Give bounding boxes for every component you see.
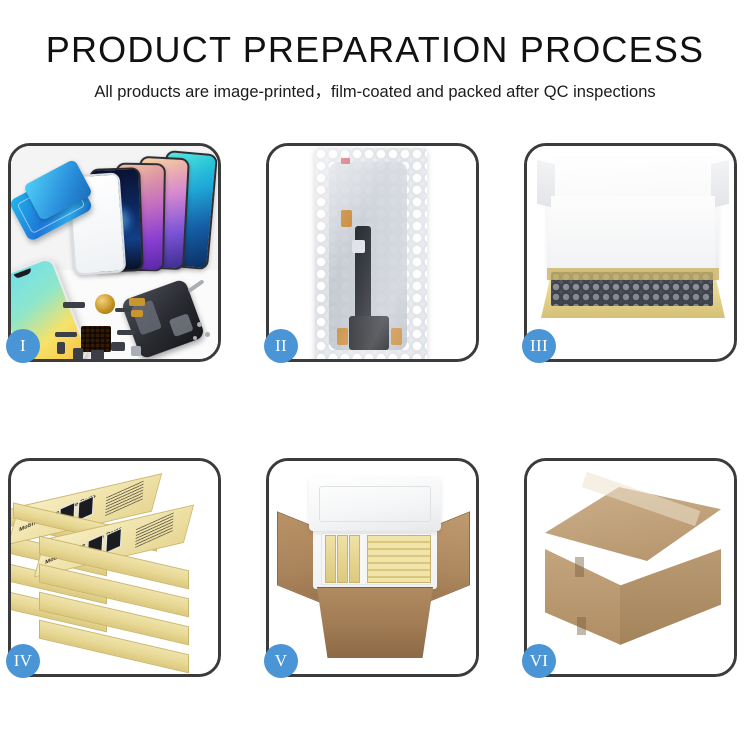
tape-tab-top xyxy=(341,210,352,227)
red-label-dot xyxy=(341,158,350,164)
step-image-1 xyxy=(11,146,218,359)
part-button-bracket xyxy=(57,342,65,354)
part-gold-coil xyxy=(95,294,115,314)
packed-gold-box-3 xyxy=(349,535,360,583)
step-panel-6: VI xyxy=(524,458,737,677)
step-badge-1: I xyxy=(6,329,40,363)
tape-tab-right xyxy=(391,328,402,345)
step-panel-3: III xyxy=(524,143,737,362)
part-screw-1 xyxy=(197,322,202,327)
carton-seam-upper xyxy=(575,557,584,577)
part-flex-cable-1 xyxy=(115,308,131,312)
part-vibrator xyxy=(91,350,104,359)
part-gold-bracket xyxy=(131,310,143,317)
packed-gold-boxes-flat xyxy=(367,535,431,583)
step-panel-4: Mobile Phone Spare Parts Mobile Phone Sp… xyxy=(8,458,221,677)
carton-seam-lower xyxy=(577,617,586,635)
part-camera-module xyxy=(111,342,125,351)
step-panel-5: V xyxy=(266,458,479,677)
page-subtitle: All products are image-printed，film-coat… xyxy=(0,81,750,103)
part-speaker-mesh xyxy=(63,302,85,308)
lcd-connector-board xyxy=(349,316,389,350)
step-image-3 xyxy=(527,146,734,359)
product-preparation-infographic: PRODUCT PREPARATION PROCESS All products… xyxy=(0,0,750,750)
part-screw-2 xyxy=(205,332,210,337)
box-label-spec-lines-1 xyxy=(105,481,143,516)
steps-grid: I II xyxy=(8,143,742,677)
step-badge-5: V xyxy=(264,644,298,678)
foam-box-lid xyxy=(309,477,441,531)
step-image-6 xyxy=(527,461,734,674)
part-sim-tray xyxy=(73,348,83,359)
packed-gold-box-1 xyxy=(325,535,336,583)
header: PRODUCT PREPARATION PROCESS All products… xyxy=(0,0,750,103)
step-badge-2: II xyxy=(264,329,298,363)
lcd-flex-cable xyxy=(355,226,371,324)
part-flex-cable-2 xyxy=(55,332,77,337)
part-chip-grid xyxy=(81,326,111,352)
step-badge-3: III xyxy=(522,329,556,363)
bubble-wrap-pouch xyxy=(315,148,427,359)
box-label-spec-lines-2 xyxy=(135,512,173,547)
part-gold-connector xyxy=(129,298,145,306)
carton-right-face xyxy=(620,549,721,645)
tray-inner-edge xyxy=(547,268,719,280)
gold-box-stack: Mobile Phone Spare Parts Mobile Phone Sp… xyxy=(11,461,218,674)
page-title: PRODUCT PREPARATION PROCESS xyxy=(0,28,750,72)
foam-inner-face xyxy=(551,196,715,274)
step-badge-6: VI xyxy=(522,644,556,678)
step-image-5 xyxy=(269,461,476,674)
part-metal-shield xyxy=(131,346,141,356)
packed-gold-box-2 xyxy=(337,535,348,583)
part-flex-cable-3 xyxy=(117,330,135,335)
carton-front-panel xyxy=(309,587,441,658)
step-image-2 xyxy=(269,146,476,359)
part-screw-3 xyxy=(193,336,197,340)
step-badge-4: IV xyxy=(6,644,40,678)
step-panel-1: I xyxy=(8,143,221,362)
step-panel-2: II xyxy=(266,143,479,362)
tape-tab-left xyxy=(337,328,348,345)
step-image-4: Mobile Phone Spare Parts Mobile Phone Sp… xyxy=(11,461,218,674)
